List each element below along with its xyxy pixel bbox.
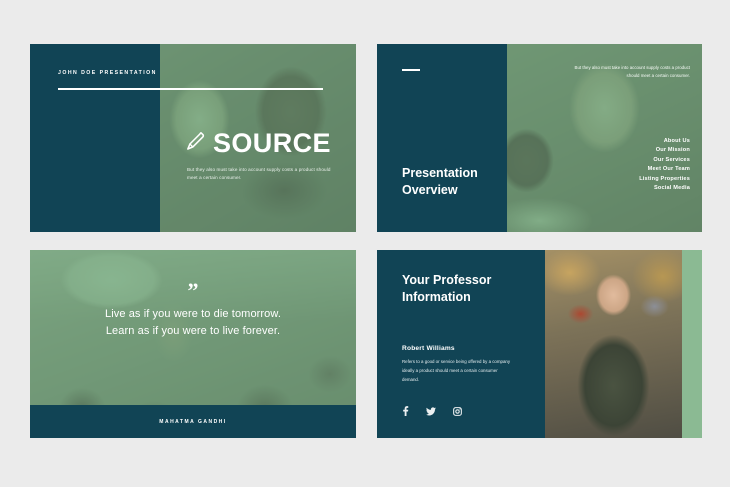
title-group: SOURCE xyxy=(185,130,331,157)
slide-overview[interactable]: Presentation Overview But they also must… xyxy=(377,44,702,232)
quote-text: Live as if you were to die tomorrow. Lea… xyxy=(30,306,356,339)
overview-menu: About Us Our Mission Our Services Meet O… xyxy=(639,138,690,191)
overview-note: But they also must take into account sup… xyxy=(572,64,690,81)
menu-item-our-mission[interactable]: Our Mission xyxy=(639,147,690,153)
twitter-icon[interactable] xyxy=(426,407,436,416)
menu-item-listing-properties[interactable]: Listing Properties xyxy=(639,176,690,182)
quote-author: MAHATMA GANDHI xyxy=(159,419,226,425)
professor-bio: Refers to a good or service being offere… xyxy=(402,358,514,384)
slide-profile[interactable]: Your Professor Information Robert Willia… xyxy=(377,250,702,438)
professor-portrait-photo xyxy=(545,250,682,438)
green-edge-strip xyxy=(682,250,702,438)
overview-panel xyxy=(377,44,507,232)
slide-quote[interactable]: ” Live as if you were to die tomorrow. L… xyxy=(30,250,356,438)
profile-title: Your Professor Information xyxy=(402,272,491,307)
professor-name: Robert Williams xyxy=(402,345,455,352)
title-subtitle: But they also must take into account sup… xyxy=(187,166,339,183)
quote-mark-icon: ” xyxy=(188,280,199,302)
facebook-icon[interactable] xyxy=(402,406,409,416)
pencil-icon xyxy=(185,130,205,157)
menu-item-our-services[interactable]: Our Services xyxy=(639,157,690,163)
dash-accent xyxy=(402,69,420,71)
presentation-kicker: JOHN DOE PRESENTATION xyxy=(58,70,157,76)
profile-title-line2: Information xyxy=(402,289,491,306)
slide-title[interactable]: JOHN DOE PRESENTATION SOURCE But they al… xyxy=(30,44,356,232)
social-links xyxy=(402,406,462,416)
profile-title-line1: Your Professor xyxy=(402,272,491,289)
portrait-image xyxy=(545,250,682,438)
overview-title: Presentation Overview xyxy=(402,165,478,200)
divider-rule xyxy=(58,88,323,90)
quote-line-2: Learn as if you were to live forever. xyxy=(30,323,356,340)
quote-line-1: Live as if you were to die tomorrow. xyxy=(30,306,356,323)
overview-title-line1: Presentation xyxy=(402,165,478,182)
overview-title-line2: Overview xyxy=(402,182,478,199)
slide-deck-preview: JOHN DOE PRESENTATION SOURCE But they al… xyxy=(0,0,730,487)
quote-author-band: MAHATMA GANDHI xyxy=(30,405,356,438)
instagram-icon[interactable] xyxy=(453,407,462,416)
menu-item-meet-our-team[interactable]: Meet Our Team xyxy=(639,166,690,172)
menu-item-social-media[interactable]: Social Media xyxy=(639,185,690,191)
menu-item-about-us[interactable]: About Us xyxy=(639,138,690,144)
slide-title-text: SOURCE xyxy=(213,130,331,157)
